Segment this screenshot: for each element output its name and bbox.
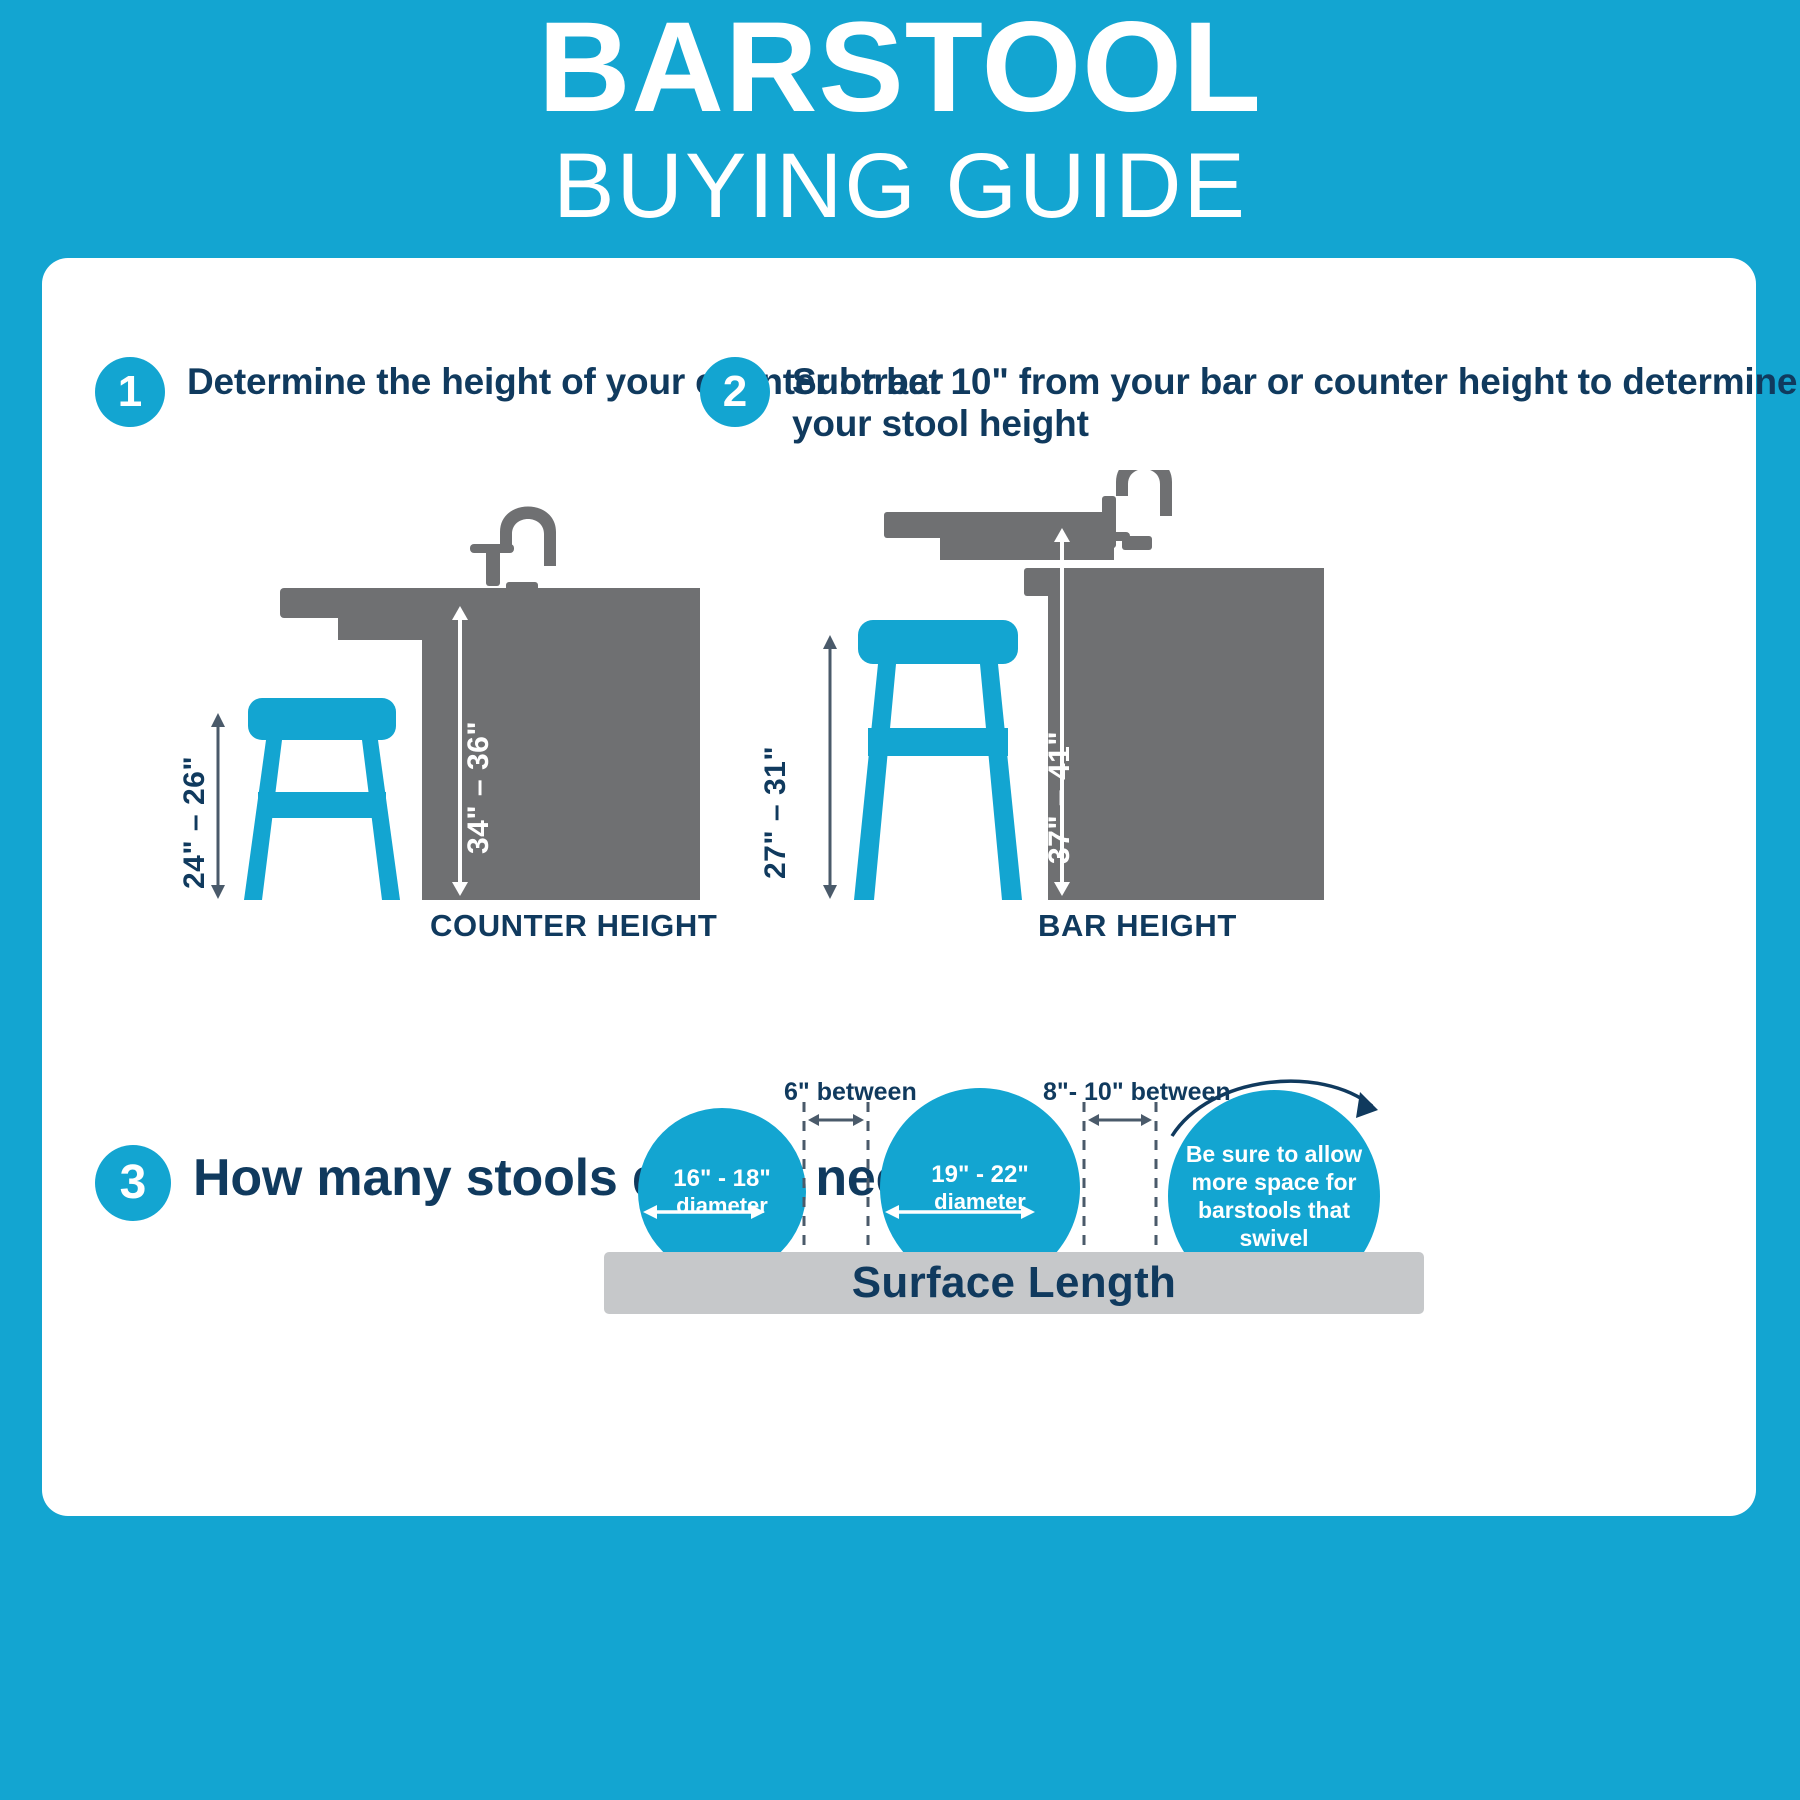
counter-stool-height-label: 24" – 26" (178, 756, 212, 889)
counter-height-diagram (170, 470, 730, 910)
bar-height-caption: BAR HEIGHT (1038, 908, 1237, 944)
bar-stool-height-arrow (823, 635, 837, 899)
page-title: BARSTOOL (0, 0, 1800, 132)
page-subtitle: BUYING GUIDE (0, 138, 1800, 235)
bar-stool-icon (854, 620, 1022, 900)
infographic-page: BARSTOOL BUYING GUIDE 1 Determine the he… (0, 0, 1800, 1800)
header: BARSTOOL BUYING GUIDE (0, 0, 1800, 255)
gap-large-arrow (1088, 1114, 1152, 1126)
counter-stool-icon (244, 698, 400, 900)
step-2-badge: 2 (700, 357, 770, 427)
gap-large-label: 8"- 10" between (1043, 1078, 1231, 1107)
stool-height-arrow (211, 713, 225, 899)
step-2-label: Subtract 10" from your bar or counter he… (792, 357, 1800, 445)
small-diameter-arrow (643, 1205, 765, 1219)
step-2-header: 2 Subtract 10" from your bar or counter … (700, 357, 1800, 445)
gap-large-guides (1084, 1102, 1156, 1256)
step-1-badge: 1 (95, 357, 165, 427)
counter-surface-height-label: 34" – 36" (462, 721, 496, 854)
gap-small-label: 6" between (784, 1078, 917, 1107)
bar-stool-height-label: 27" – 31" (759, 746, 793, 879)
counter-height-caption: COUNTER HEIGHT (430, 908, 717, 944)
gap-small-guides (804, 1102, 868, 1256)
bar-surface-height-label: 37" – 41" (1043, 731, 1077, 864)
gap-small-arrow (808, 1114, 864, 1126)
surface-length-bar: Surface Length (604, 1252, 1424, 1314)
faucet-icon (470, 507, 556, 597)
surface-length-label: Surface Length (852, 1258, 1176, 1308)
large-diameter-arrow (885, 1205, 1035, 1219)
step-3-badge: 3 (95, 1145, 171, 1221)
